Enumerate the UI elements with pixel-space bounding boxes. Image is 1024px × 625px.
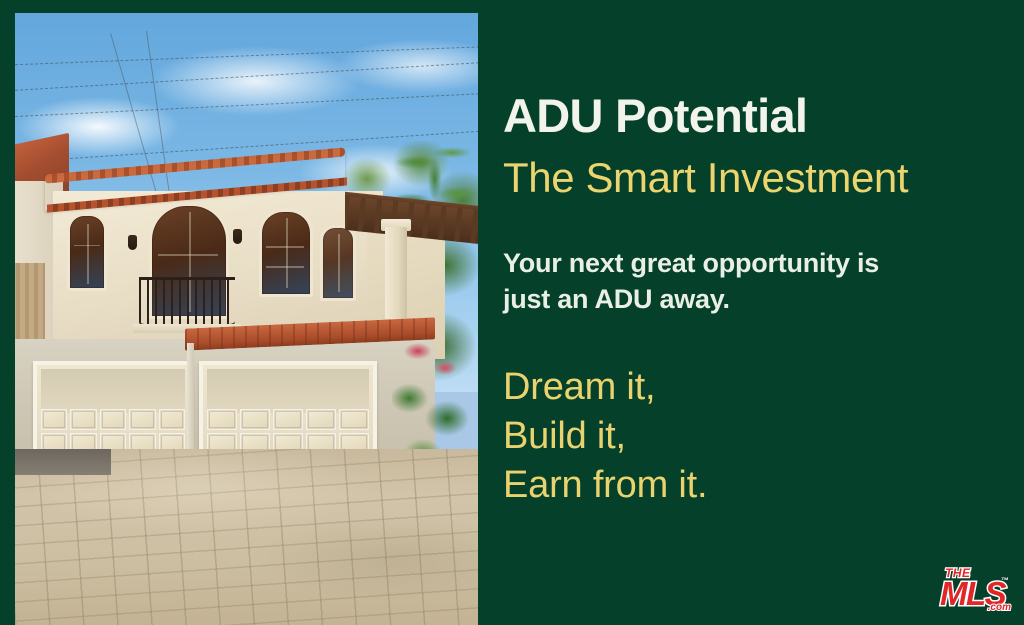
promo-graphic: ADU Potential The Smart Investment Your … — [0, 0, 1024, 625]
asphalt-strip — [15, 449, 111, 475]
tagline: Dream it, Build it, Earn from it. — [503, 363, 707, 510]
iron-balcony — [139, 271, 235, 327]
paver-shading — [15, 449, 478, 625]
headline: ADU Potential — [503, 92, 807, 139]
body-copy: Your next great opportunity is just an A… — [503, 245, 1003, 317]
tagline-line-2: Build it, — [503, 412, 707, 461]
subheadline: The Smart Investment — [503, 157, 908, 199]
window-mullion — [266, 266, 304, 268]
arched-window — [320, 225, 356, 301]
window-mullion — [74, 245, 100, 247]
window-mullion — [266, 246, 304, 248]
logo-domain-text: .com — [988, 602, 1011, 613]
door-shadow — [41, 369, 185, 413]
wall-sconce-icon — [233, 229, 242, 244]
paver-driveway — [15, 449, 478, 625]
property-photo — [15, 13, 478, 625]
arched-window — [259, 209, 313, 297]
trademark-icon: ™ — [1001, 576, 1009, 585]
window-mullion — [338, 234, 340, 292]
body-copy-line-1: Your next great opportunity is — [503, 245, 1003, 281]
window-mullion — [158, 254, 218, 256]
window-mullion — [87, 224, 89, 284]
tagline-line-1: Dream it, — [503, 363, 707, 412]
photo-inner — [15, 13, 478, 625]
arched-window — [67, 213, 107, 291]
the-mls-logo[interactable]: THE MLS ™ .com — [938, 563, 1012, 615]
body-copy-line-2: just an ADU away. — [503, 281, 1003, 317]
window-mullion — [286, 218, 288, 288]
text-panel: ADU Potential The Smart Investment Your … — [489, 0, 1024, 625]
balcony-railing — [139, 277, 235, 327]
tagline-line-3: Earn from it. — [503, 461, 707, 510]
wall-sconce-icon — [128, 235, 137, 250]
door-shadow — [207, 369, 369, 413]
